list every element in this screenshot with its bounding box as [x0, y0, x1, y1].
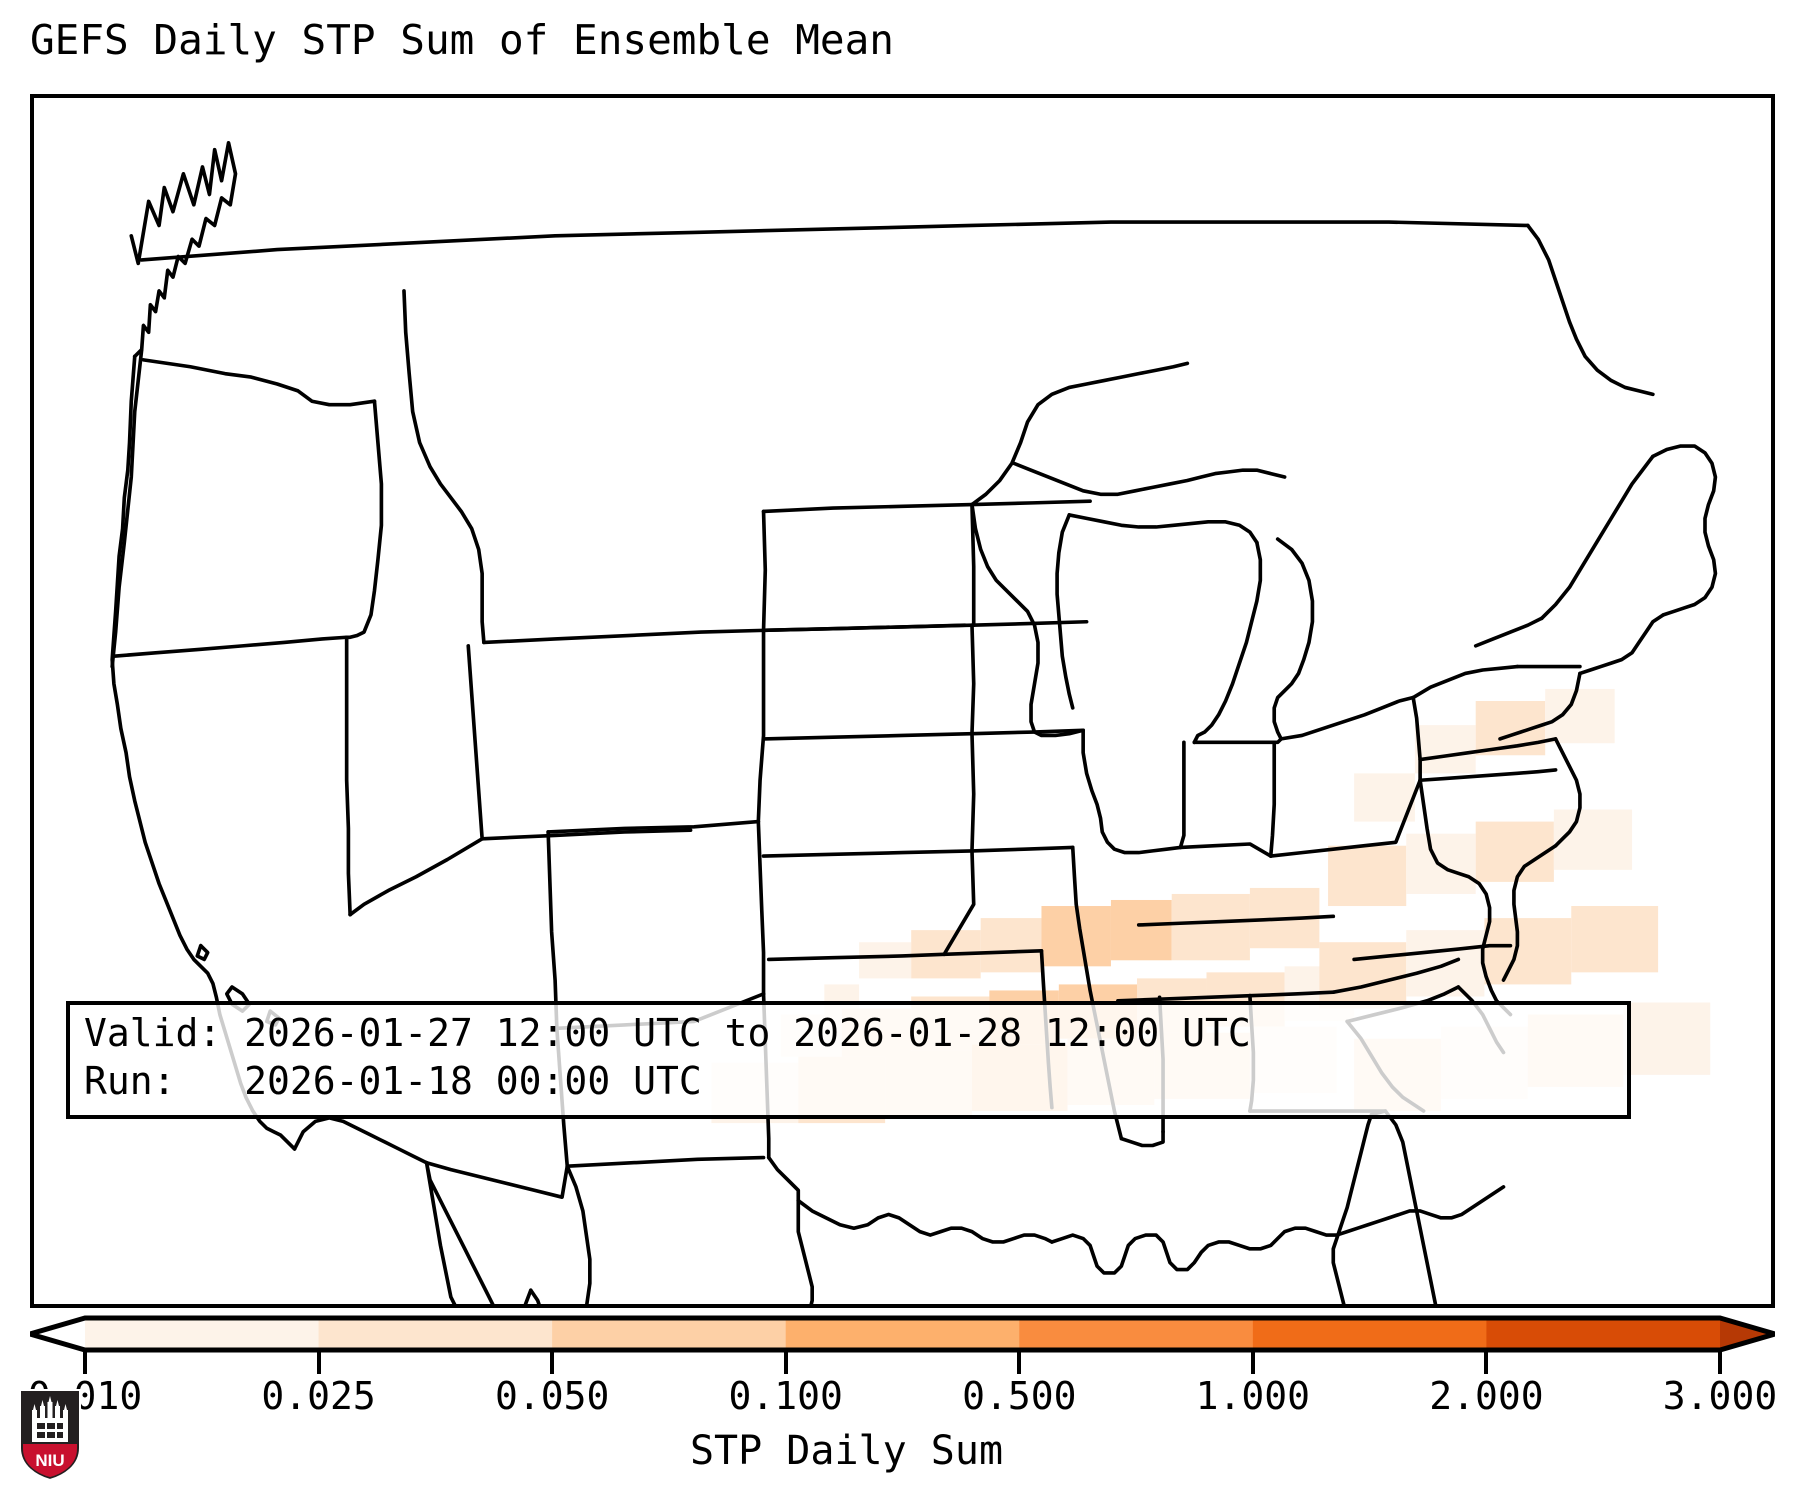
- colorbar-segment: [552, 1318, 786, 1350]
- map-panel: Valid: 2026-01-27 12:00 UTC to 2026-01-2…: [30, 94, 1775, 1308]
- colorbar-tick: [784, 1350, 788, 1374]
- colorbar-tick-label: 0.100: [729, 1374, 843, 1418]
- colorbar-tick: [1718, 1350, 1722, 1374]
- colorbar-tick-label: 0.500: [962, 1374, 1076, 1418]
- run-time-text: Run: 2026-01-18 00:00 UTC: [84, 1059, 702, 1103]
- colorbar-tick: [83, 1350, 87, 1374]
- colorbar-tick-label: 1.000: [1196, 1374, 1310, 1418]
- colorbar-tick-label: 0.050: [495, 1374, 609, 1418]
- colorbar-axis-label: STP Daily Sum: [0, 1428, 1803, 1474]
- colorbar-tick-label: 3.000: [1663, 1374, 1777, 1418]
- info-box: Valid: 2026-01-27 12:00 UTC to 2026-01-2…: [66, 1001, 1631, 1119]
- colorbar-tick: [317, 1350, 321, 1374]
- valid-time-text: Valid: 2026-01-27 12:00 UTC to 2026-01-2…: [84, 1011, 1251, 1055]
- colorbar-tick: [1251, 1350, 1255, 1374]
- colorbar-segment: [1486, 1318, 1720, 1350]
- colorbar-segment: [786, 1318, 1020, 1350]
- colorbar-tick-labels: 0.0100.0250.0500.1000.5001.0002.0003.000: [0, 1374, 1803, 1424]
- niu-logo: NIU: [16, 1386, 84, 1482]
- colorbar-tick-label: 2.000: [1429, 1374, 1543, 1418]
- map-outlines: [34, 98, 1771, 1304]
- map-canvas: Valid: 2026-01-27 12:00 UTC to 2026-01-2…: [34, 98, 1771, 1304]
- niu-logo-text: NIU: [35, 1451, 64, 1470]
- colorbar-segment: [1253, 1318, 1487, 1350]
- colorbar-tick: [550, 1350, 554, 1374]
- colorbar-segment: [319, 1318, 553, 1350]
- colorbar-segment: [1019, 1318, 1253, 1350]
- colorbar-tick: [1484, 1350, 1488, 1374]
- colorbar-tick-label: 0.025: [261, 1374, 375, 1418]
- colorbar-tick: [1017, 1350, 1021, 1374]
- colorbar-segment: [85, 1318, 319, 1350]
- page-title: GEFS Daily STP Sum of Ensemble Mean: [30, 16, 894, 64]
